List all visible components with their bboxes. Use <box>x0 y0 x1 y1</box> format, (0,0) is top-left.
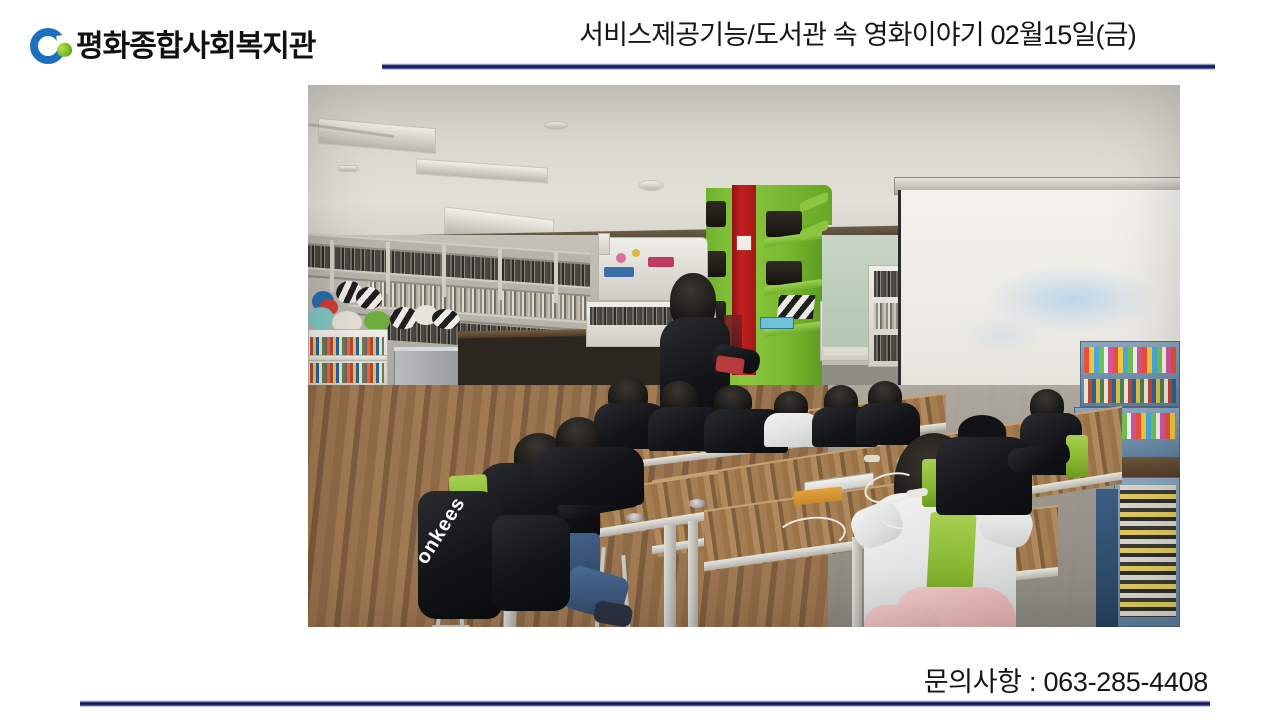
no-smoking-sign <box>736 235 752 251</box>
ceiling-downlight <box>338 165 358 172</box>
plush-toy <box>308 307 334 329</box>
table-leg <box>688 521 698 627</box>
shelf-divider <box>330 240 334 292</box>
organization-name: 평화종합사회복지관 <box>76 32 315 64</box>
child-person <box>856 403 920 445</box>
decoration-dot <box>616 253 626 263</box>
striped-item <box>777 295 816 319</box>
shelf-divider <box>442 245 446 297</box>
books-row <box>310 337 384 357</box>
cable-grommet <box>688 499 706 508</box>
header-divider <box>382 63 1215 70</box>
circle-leaf-logo-icon <box>28 26 72 70</box>
library-movie-photo: onkees <box>308 85 1180 627</box>
hanging-jacket <box>492 515 570 611</box>
organization-logo: 평화종합사회복지관 <box>28 26 315 70</box>
chair-frame <box>432 625 470 627</box>
slide-header: 평화종합사회복지관 서비스제공기능/도서관 속 영화이야기 02월15일(금) <box>0 0 1280 82</box>
shelf-ledge <box>308 355 388 361</box>
shelf-divider <box>386 242 390 294</box>
footer-divider <box>80 700 1210 707</box>
child-person <box>534 447 644 505</box>
shelf-divider <box>554 251 558 303</box>
magazines-row <box>1084 379 1176 403</box>
decoration-label <box>648 257 674 267</box>
pillar-nook <box>706 251 726 277</box>
shelf-divider <box>498 248 502 300</box>
pink-padded-coat <box>864 605 940 627</box>
shelf-box <box>598 233 610 255</box>
ceiling-downlight <box>638 180 664 191</box>
table-leg <box>664 525 676 627</box>
table-leg <box>852 537 862 627</box>
decoration-dot <box>632 249 640 257</box>
magazines-column <box>1120 485 1176 617</box>
info-label <box>760 317 794 329</box>
cable-grommet <box>626 513 644 522</box>
magazines-row <box>1084 347 1176 373</box>
books-row <box>310 363 384 383</box>
page-title: 서비스제공기능/도서관 속 영화이야기 02월15일(금) <box>500 21 1215 51</box>
rack-side-panel <box>1096 489 1118 627</box>
pillar-nook <box>706 201 726 227</box>
contact-info: 문의사항 : 063-285-4408 <box>924 660 1208 699</box>
decoration-label <box>604 267 634 277</box>
plush-toy <box>364 311 390 331</box>
ceiling-downlight <box>544 121 568 130</box>
pillar-nook <box>766 211 802 237</box>
paper-scrap <box>864 455 880 462</box>
